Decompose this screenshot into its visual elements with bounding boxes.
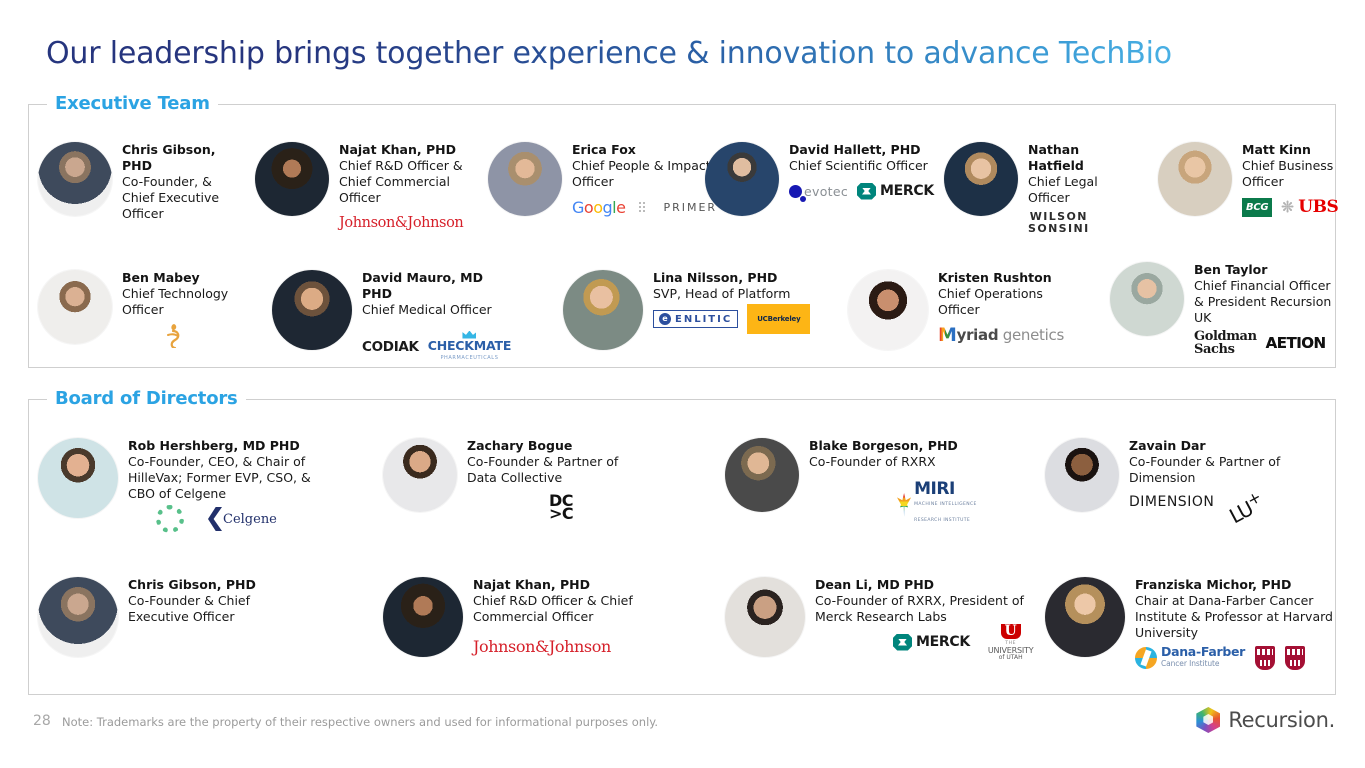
dana-farber-mark-icon xyxy=(1135,647,1157,669)
aetion-logo: AETION xyxy=(1266,334,1326,352)
person-title: Chief Technology Officer xyxy=(122,286,248,318)
person-card[interactable]: Ben Mabey Chief Technology Officer xyxy=(38,270,248,348)
utah-u-icon: U xyxy=(1001,624,1021,639)
person-title: Co-Founder of RXRX, President of Merck R… xyxy=(815,593,1033,625)
affiliation-logos: MERCK U THE UNIVERSITY of UTAH xyxy=(893,629,1033,655)
avatar xyxy=(38,270,112,344)
person-name: Lina Nilsson, PHD xyxy=(653,270,810,286)
miri-logo: MIRIMACHINE INTELLIGENCE RESEARCH INSTIT… xyxy=(897,481,985,529)
affiliation-logos: DIMENSION LU+ xyxy=(1129,494,1295,520)
harvard-shield-icon xyxy=(1255,646,1275,670)
avatar xyxy=(488,142,562,216)
avatar xyxy=(383,438,457,512)
avatar xyxy=(38,577,118,657)
celgene-logo: Celgene xyxy=(208,507,277,531)
person-name: Nathan Hatfield xyxy=(1028,142,1124,174)
affiliation-logos: Dana-FarberCancer Institute xyxy=(1135,645,1335,671)
person-card[interactable]: Matt Kinn Chief Business Officer BCG ❊UB… xyxy=(1158,142,1338,220)
person-title: SVP, Head of Platform xyxy=(653,286,810,302)
person-card[interactable]: Erica Fox Chief People & Impact Officer … xyxy=(488,142,693,220)
enlitic-logo: eENLITIC xyxy=(653,310,738,328)
person-title: Co-Founder & Partner of Data Collective xyxy=(467,454,633,486)
person-title: Chief Medical Officer xyxy=(362,302,511,318)
person-card[interactable]: Chris Gibson, PHD Co-Founder & Chief Exe… xyxy=(38,577,288,657)
person-title: Chief R&D Officer & Chief Commercial Off… xyxy=(473,593,653,625)
person-card[interactable]: Kristen Rushton Chief Operations Officer… xyxy=(848,270,1048,350)
section-label-board-of-directors: Board of Directors xyxy=(47,388,246,409)
section-label-executive-team: Executive Team xyxy=(47,93,218,114)
harvard-shield-icon xyxy=(1285,646,1305,670)
person-name: Najat Khan, PHD xyxy=(473,577,653,593)
miri-bird-icon xyxy=(897,493,911,517)
avatar xyxy=(705,142,779,216)
affiliation-logos xyxy=(162,322,248,348)
person-card[interactable]: Dean Li, MD PHD Co-Founder of RXRX, Pres… xyxy=(725,577,975,657)
person-title: Co-Founder, CEO, & Chair of HilleVax; Fo… xyxy=(128,454,328,502)
avatar xyxy=(1045,438,1119,512)
avatar xyxy=(725,438,799,512)
codiak-logo: CODIAK xyxy=(362,339,419,355)
footnote-text: Note: Trademarks are the property of the… xyxy=(62,715,658,729)
bcg-logo: BCG xyxy=(1242,198,1272,217)
merck-mark-icon xyxy=(857,183,876,200)
person-title: Chief Legal Officer xyxy=(1028,174,1124,206)
person-card[interactable]: Zavain Dar Co-Founder & Partner of Dimen… xyxy=(1045,438,1295,520)
person-title: Co-Founder & Partner of Dimension xyxy=(1129,454,1295,486)
person-name: Ben Taylor xyxy=(1194,262,1340,278)
person-name: Zavain Dar xyxy=(1129,438,1295,454)
person-name: Franziska Michor, PHD xyxy=(1135,577,1335,593)
person-name: Chris Gibson, PHD xyxy=(128,577,288,593)
page-number: 28 xyxy=(33,713,51,729)
recursion-runner-icon xyxy=(162,322,184,348)
person-name: David Hallett, PHD xyxy=(789,142,934,158)
goldman-sachs-logo: Goldman Sachs xyxy=(1194,330,1257,356)
person-title: Chair at Dana-Farber Cancer Institute & … xyxy=(1135,593,1335,641)
merck-mark-icon xyxy=(893,634,912,651)
person-name: Blake Borgeson, PHD xyxy=(809,438,985,454)
primer-dots-icon xyxy=(638,201,650,213)
person-card[interactable]: Zachary Bogue Co-Founder & Partner of Da… xyxy=(383,438,633,520)
merck-logo: MERCK xyxy=(893,634,970,651)
person-title: Chief Scientific Officer xyxy=(789,158,934,174)
page-title: Our leadership brings together experienc… xyxy=(46,36,1172,71)
checkmate-logo: CHECKMATE PHARMACEUTICALS xyxy=(428,331,511,364)
affiliation-logos: BCG ❊UBS xyxy=(1242,194,1338,220)
university-of-utah-logo: U THE UNIVERSITY of UTAH xyxy=(988,624,1034,661)
person-name: Najat Khan, PHD xyxy=(339,142,470,158)
person-card[interactable]: Rob Hershberg, MD PHD Co-Founder, CEO, &… xyxy=(38,438,328,532)
enlitic-mark-icon: e xyxy=(659,313,671,325)
ubs-logo: ❊UBS xyxy=(1281,197,1338,217)
avatar xyxy=(725,577,805,657)
person-name: Chris Gibson, PHD xyxy=(122,142,243,174)
affiliation-logos: CODIAK CHECKMATE PHARMACEUTICALS xyxy=(362,334,511,360)
person-card[interactable]: Lina Nilsson, PHD SVP, Head of Platform … xyxy=(563,270,783,350)
person-card[interactable]: Najat Khan, PHD Chief R&D Officer & Chie… xyxy=(255,142,470,236)
person-title: Co-Founder of RXRX xyxy=(809,454,985,470)
avatar xyxy=(255,142,329,216)
affiliation-logos: Johnson&Johnson xyxy=(473,633,653,659)
person-title: Chief R&D Officer & Chief Commercial Off… xyxy=(339,158,470,206)
recursion-brand: Recursion. xyxy=(1196,707,1335,733)
evotec-mark-icon xyxy=(789,185,802,198)
dimension-logo: DIMENSION xyxy=(1129,494,1214,510)
google-logo: Google xyxy=(572,198,625,217)
person-name: Dean Li, MD PHD xyxy=(815,577,1033,593)
affiliation-logos: Celgene xyxy=(156,506,328,532)
recursion-wordmark: Recursion. xyxy=(1228,708,1335,732)
person-card[interactable]: David Mauro, MD PHD Chief Medical Office… xyxy=(272,270,502,360)
affiliation-logos: Goldman Sachs AETION xyxy=(1194,330,1340,356)
person-card[interactable]: Franziska Michor, PHD Chair at Dana-Farb… xyxy=(1045,577,1335,671)
avatar xyxy=(38,438,118,518)
person-name: David Mauro, MD PHD xyxy=(362,270,511,302)
person-card[interactable]: Najat Khan, PHD Chief R&D Officer & Chie… xyxy=(383,577,653,659)
avatar xyxy=(944,142,1018,216)
affiliation-logos: Johnson&Johnson xyxy=(339,210,470,236)
affiliation-logos: eENLITIC UCBerkeley xyxy=(653,306,810,332)
person-card[interactable]: David Hallett, PHD Chief Scientific Offi… xyxy=(705,142,930,216)
myriad-genetics-logo: Myriad genetics xyxy=(938,324,1064,346)
slide-root: Our leadership brings together experienc… xyxy=(0,0,1365,768)
johnson-johnson-logo: Johnson&Johnson xyxy=(339,215,463,231)
person-card[interactable]: Chris Gibson, PHD Co-Founder, & Chief Ex… xyxy=(38,142,243,222)
person-card[interactable]: Nathan Hatfield Chief Legal Officer WILS… xyxy=(944,142,1124,236)
checkmate-crown-icon xyxy=(462,331,476,339)
dcvc-logo: DC >C xyxy=(549,494,573,520)
affiliation-logos: Myriad genetics xyxy=(938,322,1064,348)
wilson-sonsini-logo: WILSON SONSINI xyxy=(1028,211,1090,235)
ubs-keys-icon: ❊ xyxy=(1281,200,1296,215)
person-name: Ben Mabey xyxy=(122,270,248,286)
person-title: Co-Founder & Chief Executive Officer xyxy=(128,593,288,625)
affiliation-logos: evotec MERCK xyxy=(789,178,934,204)
person-card[interactable]: Blake Borgeson, PHD Co-Founder of RXRX M… xyxy=(725,438,985,518)
affiliation-logos: DC >C xyxy=(549,494,633,520)
avatar xyxy=(848,270,928,350)
person-name: Zachary Bogue xyxy=(467,438,633,454)
person-title: Co-Founder, & Chief Executive Officer xyxy=(122,174,243,222)
person-name: Matt Kinn xyxy=(1242,142,1338,158)
avatar xyxy=(1110,262,1184,336)
hillevax-logo xyxy=(156,505,184,533)
person-card[interactable]: Ben Taylor Chief Financial Officer & Pre… xyxy=(1110,262,1340,356)
affiliation-logos: Google PRIMER xyxy=(572,194,717,220)
person-name: Kristen Rushton xyxy=(938,270,1064,286)
avatar xyxy=(272,270,352,350)
avatar xyxy=(1045,577,1125,657)
avatar xyxy=(383,577,463,657)
recursion-hexagon-icon xyxy=(1196,707,1220,733)
affiliation-logos: MIRIMACHINE INTELLIGENCE RESEARCH INSTIT… xyxy=(897,492,985,518)
person-name: Erica Fox xyxy=(572,142,717,158)
johnson-johnson-logo: Johnson&Johnson xyxy=(473,637,611,656)
person-title: Chief Financial Officer & President Recu… xyxy=(1194,278,1340,326)
affiliation-logos: WILSON SONSINI xyxy=(1028,210,1124,236)
person-name: Rob Hershberg, MD PHD xyxy=(128,438,328,454)
evotec-logo: evotec xyxy=(789,184,848,199)
celgene-mark-icon xyxy=(208,507,222,531)
person-title: Chief Business Officer xyxy=(1242,158,1338,190)
uc-berkeley-logo: UCBerkeley xyxy=(747,304,810,334)
avatar xyxy=(1158,142,1232,216)
dana-farber-logo: Dana-FarberCancer Institute xyxy=(1135,646,1245,670)
person-title: Chief Operations Officer xyxy=(938,286,1064,318)
avatar xyxy=(563,270,643,350)
avatar xyxy=(38,142,112,216)
person-title: Chief People & Impact Officer xyxy=(572,158,717,190)
merck-logo: MERCK xyxy=(857,183,934,200)
